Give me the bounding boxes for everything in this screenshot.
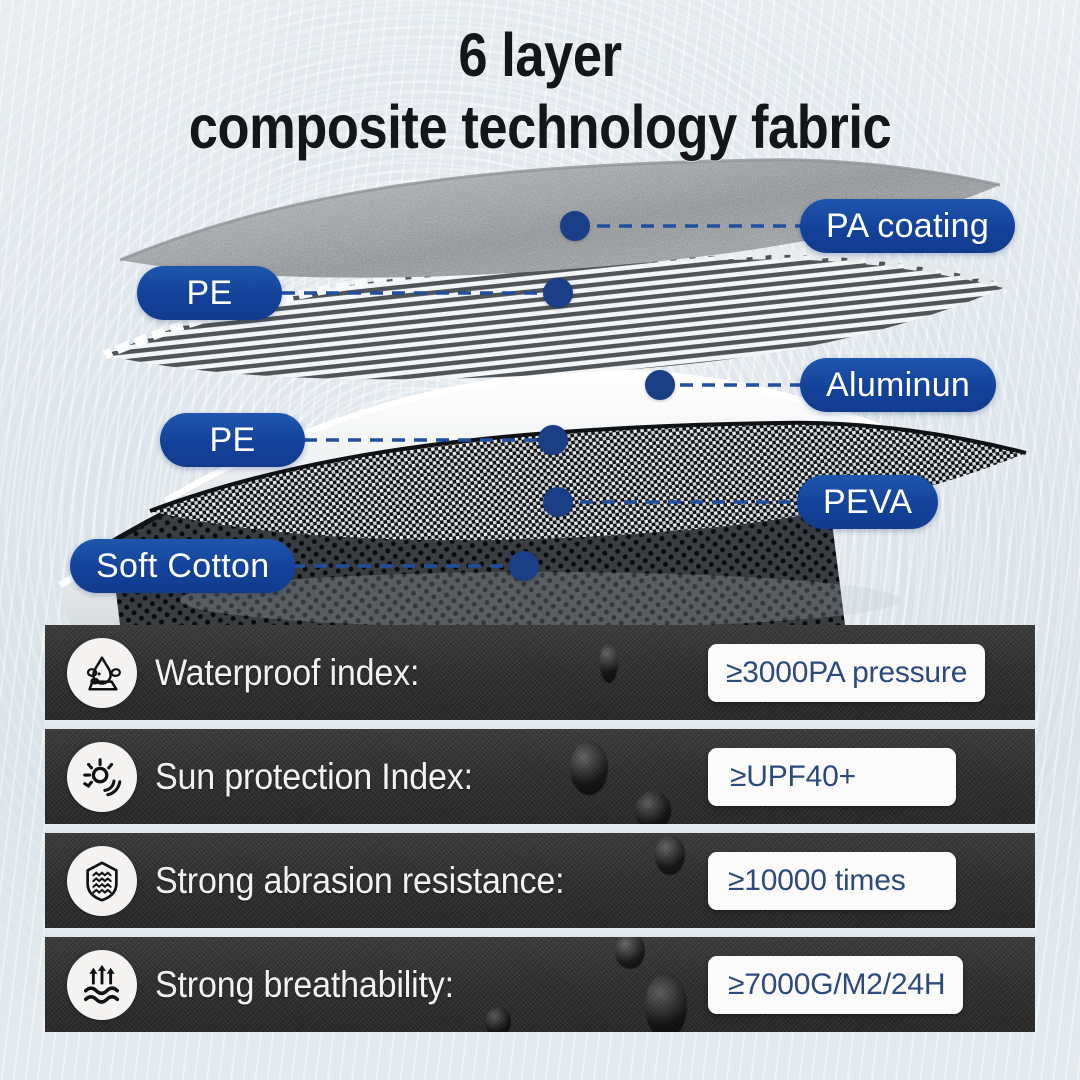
spec-row-abrasion: Strong abrasion resistance: ≥10000 times xyxy=(45,833,1035,928)
spec-row-breathability: Strong breathability: ≥7000G/M2/24H xyxy=(45,937,1035,1032)
spec-value-breathability[interactable]: ≥7000G/M2/24H xyxy=(708,956,963,1014)
spec-label-breathability: Strong breathability: xyxy=(155,964,454,1006)
layer-label-text: Aluminun xyxy=(826,366,970,405)
layer-dot-aluminun xyxy=(645,370,675,400)
layer-label-pa-coating[interactable]: PA coating xyxy=(800,199,1015,253)
layer-dot-pe-upper xyxy=(543,278,573,308)
spec-value-sun-protection[interactable]: ≥UPF40+ xyxy=(708,748,956,806)
layer-dot-pe-lower xyxy=(538,425,568,455)
layer-label-soft-cotton[interactable]: Soft Cotton xyxy=(70,539,295,593)
row-divider xyxy=(45,824,1035,833)
spec-label-sun-protection: Sun protection Index: xyxy=(155,756,473,798)
layer-label-text: PA coating xyxy=(826,207,989,246)
water-droplet-deco xyxy=(485,1007,511,1032)
layer-label-text: PE xyxy=(210,421,256,460)
page-title: 6 layer composite technology fabric xyxy=(0,24,1080,158)
water-droplet-deco xyxy=(635,791,671,824)
layer-label-pe-upper[interactable]: PE xyxy=(137,266,282,320)
spec-label-waterproof: Waterproof index: xyxy=(155,652,419,694)
sun-rays-icon xyxy=(67,742,137,812)
arrows-waves-icon xyxy=(67,950,137,1020)
infographic-stage: 6 layer composite technology fabric xyxy=(0,0,1080,1080)
water-drop-surface-icon xyxy=(67,638,137,708)
layer-label-text: PEVA xyxy=(823,483,912,522)
layer-dot-soft-cotton xyxy=(509,551,539,581)
spec-label-abrasion: Strong abrasion resistance: xyxy=(155,860,564,902)
title-line-1: 6 layer xyxy=(76,24,1005,86)
water-droplet-deco xyxy=(645,973,687,1032)
title-line-2: composite technology fabric xyxy=(76,96,1005,158)
spec-value-abrasion[interactable]: ≥10000 times xyxy=(708,852,956,910)
layer-dot-pa-coating xyxy=(560,211,590,241)
layer-label-text: PE xyxy=(187,274,233,313)
layer-label-peva[interactable]: PEVA xyxy=(797,475,938,529)
spec-row-sun-protection: Sun protection Index: ≥UPF40+ xyxy=(45,729,1035,824)
spec-row-waterproof: Waterproof index: ≥3000PA pressure xyxy=(45,625,1035,720)
row-divider xyxy=(45,720,1035,729)
layer-label-aluminun[interactable]: Aluminun xyxy=(800,358,996,412)
spec-value-waterproof[interactable]: ≥3000PA pressure xyxy=(708,644,985,702)
shield-waves-icon xyxy=(67,846,137,916)
water-droplet-deco xyxy=(655,835,685,875)
water-droplet-deco xyxy=(570,741,608,795)
layer-label-text: Soft Cotton xyxy=(96,547,269,586)
water-droplet-deco xyxy=(600,641,618,683)
layer-dot-peva xyxy=(543,487,573,517)
spec-panel: Waterproof index: ≥3000PA pressure xyxy=(45,625,1035,1035)
layer-label-pe-lower[interactable]: PE xyxy=(160,413,305,467)
row-divider xyxy=(45,928,1035,937)
